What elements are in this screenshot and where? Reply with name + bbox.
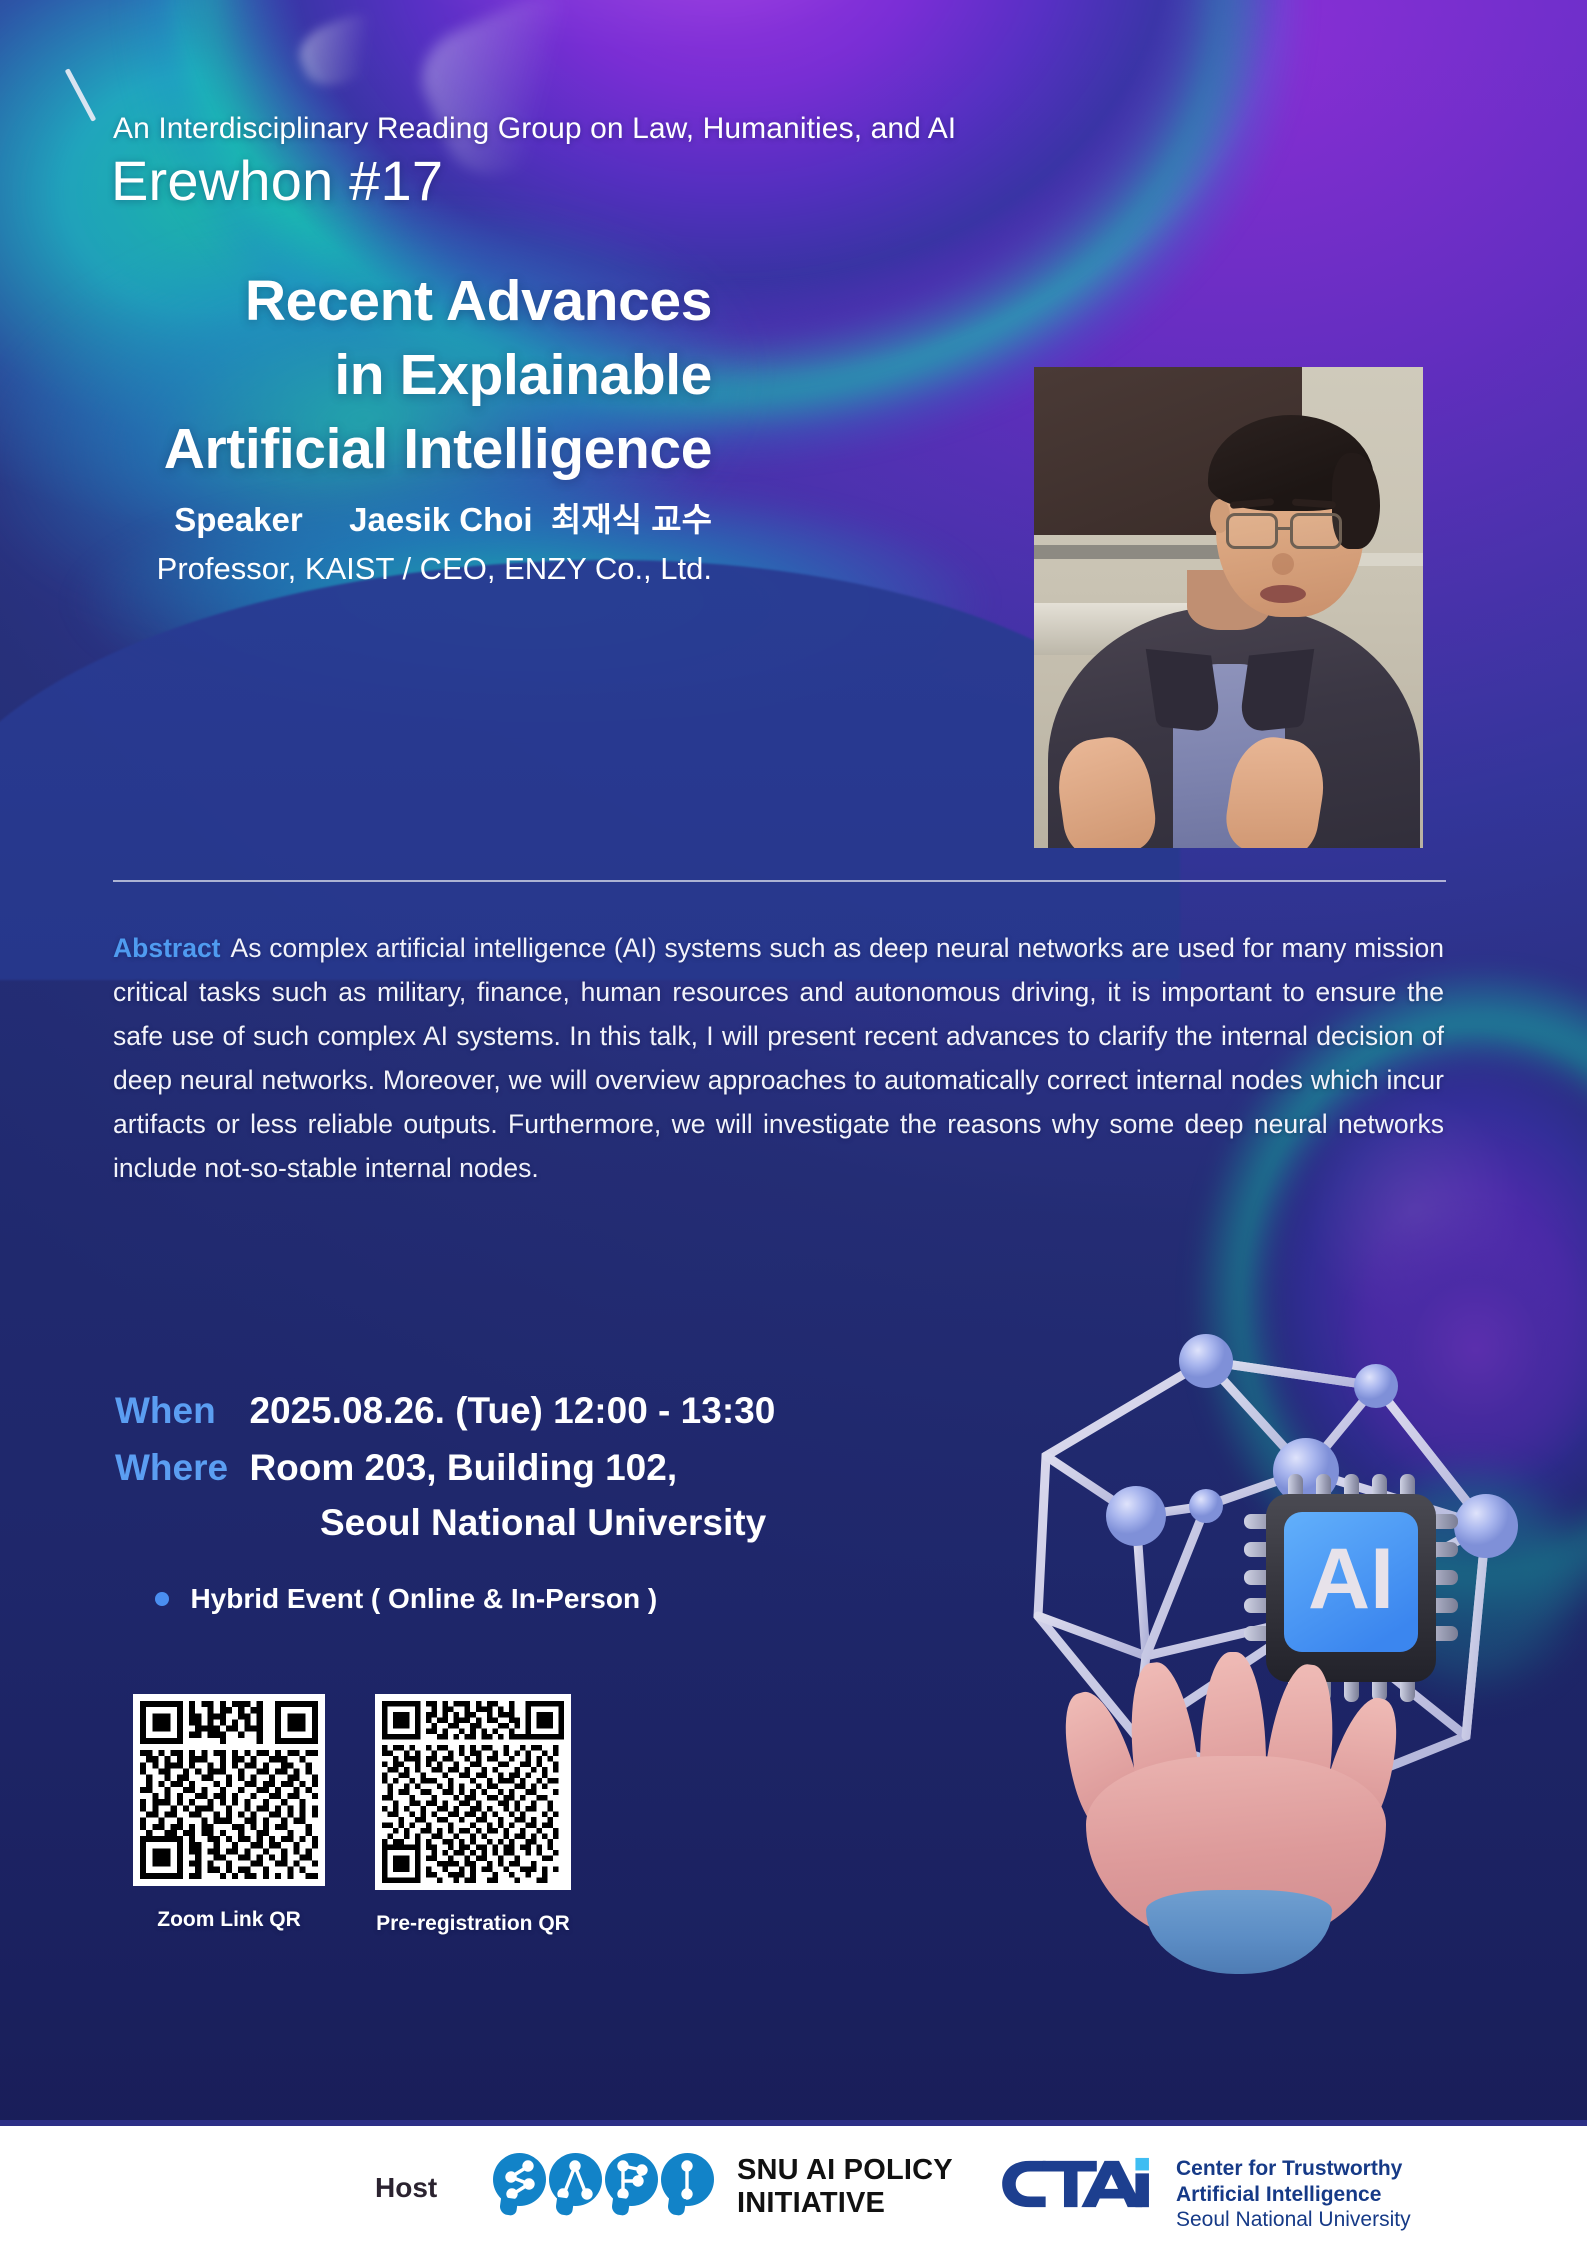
photo-nose [1272, 553, 1294, 575]
ctai-line-2: Artificial Intelligence [1176, 2182, 1411, 2208]
ctai-line-1: Center for Trustworthy [1176, 2156, 1411, 2182]
sapi-bubble-p [605, 2153, 658, 2206]
when-label: When [115, 1390, 239, 1432]
abstract-text: As complex artificial intelligence (AI) … [113, 933, 1444, 1183]
abstract-label: Abstract [113, 933, 221, 963]
where-value: Room 203, Building 102, [249, 1447, 677, 1489]
sapi-line-1: SNU AI POLICY [737, 2154, 953, 2187]
photo-mouth [1260, 585, 1306, 603]
host-label: Host [375, 2172, 437, 2204]
hand-wrist [1146, 1890, 1332, 1974]
poster-canvas: An Interdisciplinary Reading Group on La… [0, 0, 1587, 2245]
speaker-label: Speaker [174, 501, 302, 538]
title-line-3: Artificial Intelligence [0, 412, 712, 486]
ctai-wordmark: Center for Trustworthy Artificial Intell… [1176, 2156, 1411, 2233]
photo-glasses-right [1290, 513, 1342, 549]
photo-collar-left [1146, 649, 1223, 733]
ctai-line-3: Seoul National University [1176, 2207, 1411, 2233]
sapi-wordmark: SNU AI POLICY INITIATIVE [737, 2154, 953, 2220]
when-value: 2025.08.26. (Tue) 12:00 - 13:30 [249, 1390, 775, 1432]
pre-registration-qr-block[interactable]: Pre-registration QR [375, 1694, 571, 1936]
title-line-1: Recent Advances [0, 264, 712, 338]
sapi-logo-icon [493, 2153, 714, 2206]
sapi-line-2: INITIATIVE [737, 2187, 953, 2220]
speaker-name-en: Jaesik Choi [349, 501, 532, 538]
speaker-photo [1034, 367, 1423, 848]
chip-ai-label: AI [1308, 1531, 1394, 1627]
zoom-link-qr-icon[interactable] [133, 1694, 325, 1886]
title-line-2: in Explainable [0, 338, 712, 412]
ctai-logo-icon [1000, 2156, 1155, 2212]
abstract-paragraph: AbstractAs complex artificial intelligen… [113, 927, 1444, 1191]
section-divider [113, 880, 1446, 882]
pre-registration-qr-label: Pre-registration QR [375, 1912, 571, 1936]
where-value-line2: Seoul National University [320, 1502, 766, 1544]
bullet-dot-icon [155, 1592, 169, 1606]
footer-accent-bar [0, 2120, 1587, 2126]
photo-collar-right [1238, 649, 1315, 733]
speaker-affiliation: Professor, KAIST / CEO, ENZY Co., Ltd. [0, 551, 712, 587]
page-title: Recent Advances in Explainable Artificia… [0, 264, 712, 486]
footer: Host [0, 2120, 1587, 2245]
zoom-link-qr-block[interactable]: Zoom Link QR [133, 1694, 325, 1932]
series-kicker: An Interdisciplinary Reading Group on La… [113, 112, 956, 146]
hybrid-event-text: Hybrid Event ( Online & In-Person ) [190, 1583, 657, 1615]
zoom-link-qr-label: Zoom Link QR [133, 1908, 325, 1932]
where-row: Where Room 203, Building 102, [115, 1447, 677, 1489]
speaker-name-kr: 최재식 교수 [551, 501, 712, 538]
sapi-bubble-a [549, 2153, 602, 2206]
series-title: Erewhon #17 [111, 148, 443, 213]
sapi-bubble-i [661, 2153, 714, 2206]
hand-graphic [1040, 1638, 1440, 1968]
when-row: When 2025.08.26. (Tue) 12:00 - 13:30 [115, 1390, 775, 1432]
sapi-bubble-s [493, 2153, 546, 2206]
hybrid-event-row: Hybrid Event ( Online & In-Person ) [155, 1583, 657, 1615]
pre-registration-qr-icon[interactable] [375, 1694, 571, 1890]
photo-glasses-left [1226, 513, 1278, 549]
where-label: Where [115, 1447, 239, 1489]
speaker-row: Speaker Jaesik Choi 최재식 교수 [0, 493, 712, 541]
photo-glasses-bridge [1278, 527, 1290, 530]
